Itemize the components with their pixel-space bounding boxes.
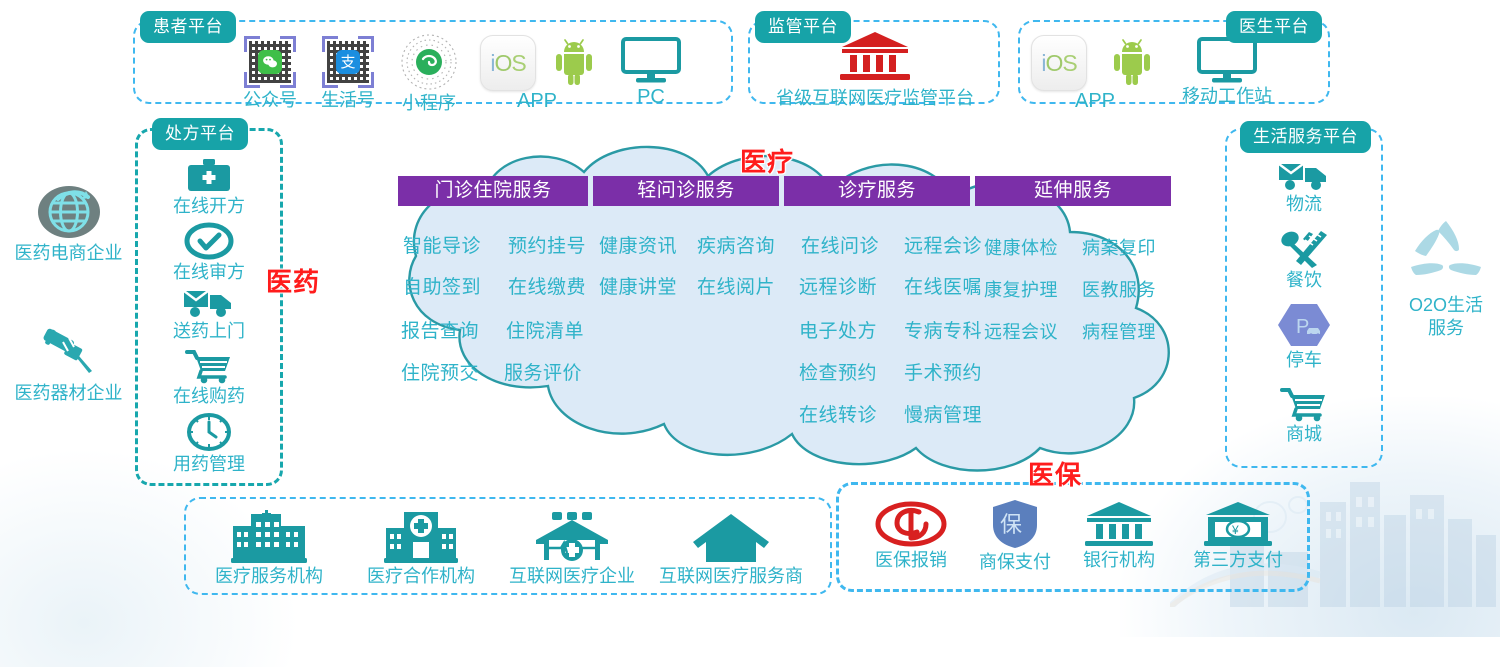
bank-icon bbox=[1083, 500, 1155, 548]
cloud-service[interactable]: 疾病咨询 bbox=[697, 231, 775, 258]
shopping-cart-icon bbox=[184, 348, 234, 384]
cloud-service[interactable]: 电子处方 bbox=[799, 316, 877, 343]
delivery-truck-icon bbox=[182, 285, 236, 319]
android-icon bbox=[548, 34, 600, 86]
svg-text:¥: ¥ bbox=[1231, 523, 1239, 537]
shield-insurance-icon: 保 bbox=[990, 498, 1040, 550]
cloud-service[interactable]: 专病专科 bbox=[904, 316, 982, 343]
institution-item-service-provider[interactable]: 互联网医疗服务商 bbox=[648, 510, 814, 587]
cloud-column-header-2: 诊疗服务 bbox=[784, 176, 970, 206]
life-service-platform-badge: 生活服务平台 bbox=[1240, 121, 1371, 153]
left-item-pharma-device[interactable]: 医药器材企业 bbox=[6, 323, 131, 404]
syringe-icon bbox=[36, 323, 102, 381]
life-item-label: 商城 bbox=[1286, 424, 1322, 445]
doctor-item-ios[interactable]: iOS bbox=[1031, 35, 1087, 91]
prescription-item-label: 在线开方 bbox=[173, 196, 245, 217]
payment-item-label: 商保支付 bbox=[979, 552, 1051, 573]
institution-item-label: 医疗合作机构 bbox=[367, 566, 475, 587]
alipay-qr-icon: 支 bbox=[322, 36, 374, 88]
prescription-item-online-review[interactable]: 在线审方 bbox=[152, 222, 266, 283]
recycle-leaf-icon bbox=[1401, 215, 1491, 287]
cloud-column-header-3: 延伸服务 bbox=[975, 176, 1171, 206]
monitor-icon bbox=[620, 36, 682, 84]
patient-item-label: 小程序 bbox=[402, 93, 456, 114]
monitor-icon bbox=[1196, 36, 1258, 84]
prescription-item-delivery[interactable]: 送药上门 bbox=[152, 285, 266, 342]
cloud-service[interactable]: 慢病管理 bbox=[904, 400, 982, 427]
hospital-building-icon bbox=[229, 510, 309, 564]
payment-item-insurance-reimbursement[interactable]: 医保报销 bbox=[857, 500, 965, 571]
medical-kit-icon bbox=[186, 158, 232, 194]
prescription-item-label: 送药上门 bbox=[173, 321, 245, 342]
ios-icon: iOS bbox=[1031, 35, 1087, 91]
patient-item-label: 公众号 bbox=[243, 90, 297, 111]
cloud-service[interactable]: 在线问诊 bbox=[801, 231, 879, 258]
left-item-label: 医药器材企业 bbox=[15, 383, 123, 404]
right-item-label-line2: 服务 bbox=[1428, 318, 1464, 339]
ios-icon: iOS bbox=[480, 35, 536, 91]
right-item-o2o[interactable]: O2O生活 服务 bbox=[1396, 215, 1496, 338]
cloud-service[interactable]: 远程会诊 bbox=[904, 231, 982, 258]
institution-item-label: 互联网医疗服务商 bbox=[659, 566, 803, 587]
doctor-item-workstation[interactable]: 移动工作站 bbox=[1172, 36, 1282, 107]
cloud-service[interactable]: 服务评价 bbox=[504, 358, 582, 385]
cloud-service[interactable]: 健康讲堂 bbox=[599, 272, 677, 299]
clinic-cross-icon bbox=[382, 510, 460, 564]
life-item-label: 物流 bbox=[1286, 194, 1322, 215]
wechat-qr-icon bbox=[244, 36, 296, 88]
patient-item-label: 生活号 bbox=[321, 90, 375, 111]
cloud-service[interactable]: 远程诊断 bbox=[799, 272, 877, 299]
cloud-service[interactable]: 手术预约 bbox=[904, 358, 982, 385]
doctor-platform-badge: 医生平台 bbox=[1226, 11, 1322, 43]
svg-text:保: 保 bbox=[1000, 512, 1022, 537]
red-tag-yiliao: 医疗 bbox=[740, 142, 794, 179]
patient-platform-badge: 患者平台 bbox=[140, 11, 236, 43]
prescription-item-label: 在线审方 bbox=[173, 262, 245, 283]
cloud-service[interactable]: 康复护理 bbox=[984, 276, 1058, 302]
cloud-service[interactable]: 在线医嘱 bbox=[904, 272, 982, 299]
life-item-logistics[interactable]: 物流 bbox=[1247, 158, 1361, 215]
life-item-mall[interactable]: 商城 bbox=[1247, 386, 1361, 445]
prescription-item-medication-mgmt[interactable]: 用药管理 bbox=[152, 412, 266, 475]
left-item-label: 医药电商企业 bbox=[15, 243, 123, 264]
cloud-service[interactable]: 智能导诊 bbox=[403, 231, 481, 258]
parking-icon: P bbox=[1277, 302, 1331, 348]
institution-item-label: 互联网医疗企业 bbox=[509, 566, 635, 587]
payment-item-label: 医保报销 bbox=[875, 550, 947, 571]
institution-item-medical-service[interactable]: 医疗服务机构 bbox=[205, 510, 333, 587]
cloud-column-header-1: 轻问诊服务 bbox=[593, 176, 779, 206]
cloud-service[interactable]: 健康体检 bbox=[984, 234, 1058, 260]
doctor-item-label: 移动工作站 bbox=[1182, 86, 1272, 107]
doctor-item-android[interactable] bbox=[1104, 34, 1160, 86]
cloud-service[interactable]: 远程会议 bbox=[984, 318, 1058, 344]
payment-item-commercial-insurance[interactable]: 保 商保支付 bbox=[961, 498, 1069, 573]
cloud-service[interactable]: 住院预交 bbox=[401, 358, 479, 385]
cloud-service[interactable]: 医教服务 bbox=[1082, 276, 1156, 302]
cloud-service[interactable]: 在线转诊 bbox=[799, 400, 877, 427]
cloud-service[interactable]: 健康资讯 bbox=[599, 231, 677, 258]
prescription-item-online-purchase[interactable]: 在线购药 bbox=[152, 348, 266, 407]
cloud-service[interactable]: 住院清单 bbox=[506, 316, 584, 343]
red-tag-yiyao: 医药 bbox=[266, 262, 320, 299]
patient-item-alipay[interactable]: 支 生活号 bbox=[316, 36, 380, 111]
cloud-service[interactable]: 病案复印 bbox=[1082, 234, 1156, 260]
patient-item-label: PC bbox=[637, 86, 665, 109]
cloud-service[interactable]: 预约挂号 bbox=[508, 231, 586, 258]
life-item-label: 餐饮 bbox=[1286, 270, 1322, 291]
delivery-truck-icon bbox=[1277, 158, 1331, 192]
cloud-service[interactable]: 在线阅片 bbox=[697, 272, 775, 299]
cloud-service[interactable]: 病程管理 bbox=[1082, 318, 1156, 344]
cloud-service[interactable]: 在线缴费 bbox=[508, 272, 586, 299]
prescription-item-label: 在线购药 bbox=[173, 386, 245, 407]
life-item-label: 停车 bbox=[1286, 350, 1322, 371]
csi-insurance-icon bbox=[875, 500, 947, 548]
institution-item-label: 医疗服务机构 bbox=[215, 566, 323, 587]
house-icon bbox=[691, 510, 771, 564]
shopping-cart-icon bbox=[1279, 386, 1329, 422]
bank-yuan-icon: ¥ bbox=[1202, 500, 1274, 548]
patient-item-miniprogram[interactable]: 小程序 bbox=[394, 33, 464, 114]
payment-item-label: 第三方支付 bbox=[1193, 550, 1283, 571]
cloud-service[interactable]: 自助签到 bbox=[403, 272, 481, 299]
globe-commerce-icon bbox=[36, 183, 102, 241]
prescription-item-online-prescribe[interactable]: 在线开方 bbox=[152, 158, 266, 217]
svg-text:P: P bbox=[1296, 316, 1309, 338]
life-item-parking[interactable]: P 停车 bbox=[1247, 302, 1361, 371]
red-tag-yibao: 医保 bbox=[1028, 455, 1082, 492]
android-icon bbox=[1106, 34, 1158, 86]
cloud-service[interactable]: 报告查询 bbox=[401, 316, 479, 343]
patient-item-ios[interactable]: iOS bbox=[480, 35, 536, 91]
check-circle-icon bbox=[184, 222, 234, 260]
clock-icon bbox=[186, 412, 232, 452]
right-item-label-line1: O2O生活 bbox=[1409, 295, 1483, 316]
payment-item-label: 银行机构 bbox=[1083, 550, 1155, 571]
life-item-dining[interactable]: 餐饮 bbox=[1247, 228, 1361, 291]
payment-item-bank[interactable]: 银行机构 bbox=[1065, 500, 1173, 571]
patient-item-wechat[interactable]: 公众号 bbox=[238, 36, 302, 111]
diagram-canvas: 患者平台 公众号 支 生活号 bbox=[0, 0, 1500, 607]
supervision-item-label: 省级互联网医疗监管平台 bbox=[776, 88, 974, 109]
doctor-app-label: APP bbox=[1055, 90, 1135, 113]
payment-item-third-party[interactable]: ¥ 第三方支付 bbox=[1178, 500, 1298, 571]
cloud-column-header-0: 门诊住院服务 bbox=[398, 176, 588, 206]
miniprogram-qr-icon bbox=[400, 33, 458, 91]
left-item-pharma-ecommerce[interactable]: 医药电商企业 bbox=[6, 183, 131, 264]
patient-item-android[interactable] bbox=[546, 34, 602, 86]
supervision-platform-badge: 监管平台 bbox=[755, 11, 851, 43]
house-medical-icon bbox=[532, 510, 612, 564]
patient-item-pc[interactable]: PC bbox=[614, 36, 688, 109]
cloud-service[interactable]: 检查预约 bbox=[799, 358, 877, 385]
institution-item-cooperative[interactable]: 医疗合作机构 bbox=[357, 510, 485, 587]
dining-icon bbox=[1277, 228, 1331, 268]
prescription-item-label: 用药管理 bbox=[173, 454, 245, 475]
core-services-cloud: 门诊住院服务 轻问诊服务 诊疗服务 延伸服务 智能导诊 预约挂号 自助签到 在线… bbox=[296, 136, 1216, 476]
patient-app-label: APP bbox=[497, 90, 577, 113]
institution-item-internet-medical[interactable]: 互联网医疗企业 bbox=[502, 510, 642, 587]
prescription-platform-badge: 处方平台 bbox=[152, 118, 248, 150]
